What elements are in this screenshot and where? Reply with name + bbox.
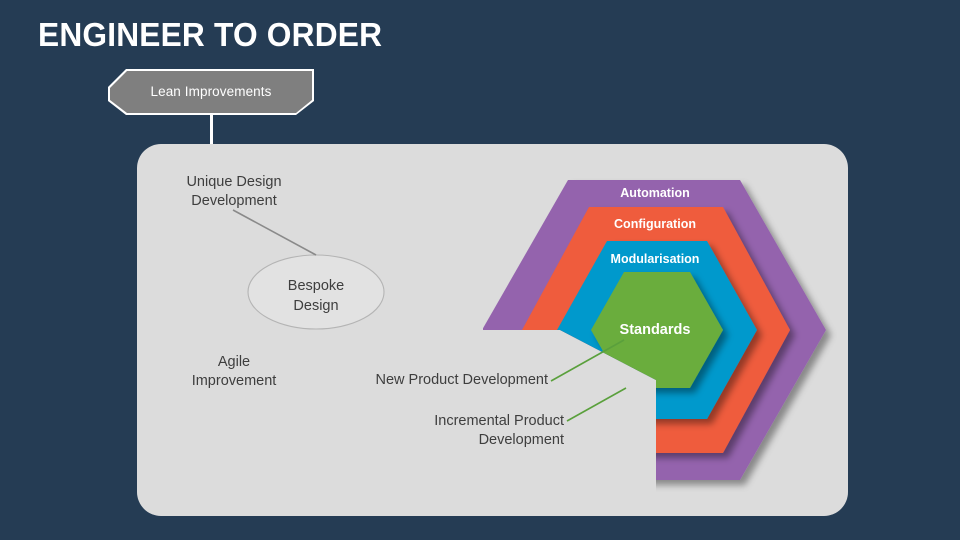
hexagon-label-configuration: Configuration: [555, 217, 755, 231]
lean-improvements-label: Lean Improvements: [150, 84, 271, 99]
label-new-product-development: New Product Development: [356, 371, 548, 390]
hexagon-label-automation: Automation: [555, 186, 755, 200]
lean-improvements-connector-line: [210, 114, 213, 146]
lean-improvements-box-fill: Lean Improvements: [110, 71, 312, 113]
label-bespoke-design: Bespoke Design: [252, 276, 380, 316]
lean-improvements-box[interactable]: Lean Improvements: [108, 69, 314, 115]
label-unique-design-development: Unique Design Development: [160, 173, 308, 211]
slide-root: ENGINEER TO ORDER Lean Improvements: [0, 0, 960, 540]
label-incremental-product-development: Incremental Product Development: [410, 412, 564, 450]
hexagon-label-standards: Standards: [575, 322, 735, 338]
page-title: ENGINEER TO ORDER: [38, 16, 382, 54]
hexagon-label-modularisation: Modularisation: [555, 252, 755, 266]
label-agile-improvement: Agile Improvement: [160, 353, 308, 391]
